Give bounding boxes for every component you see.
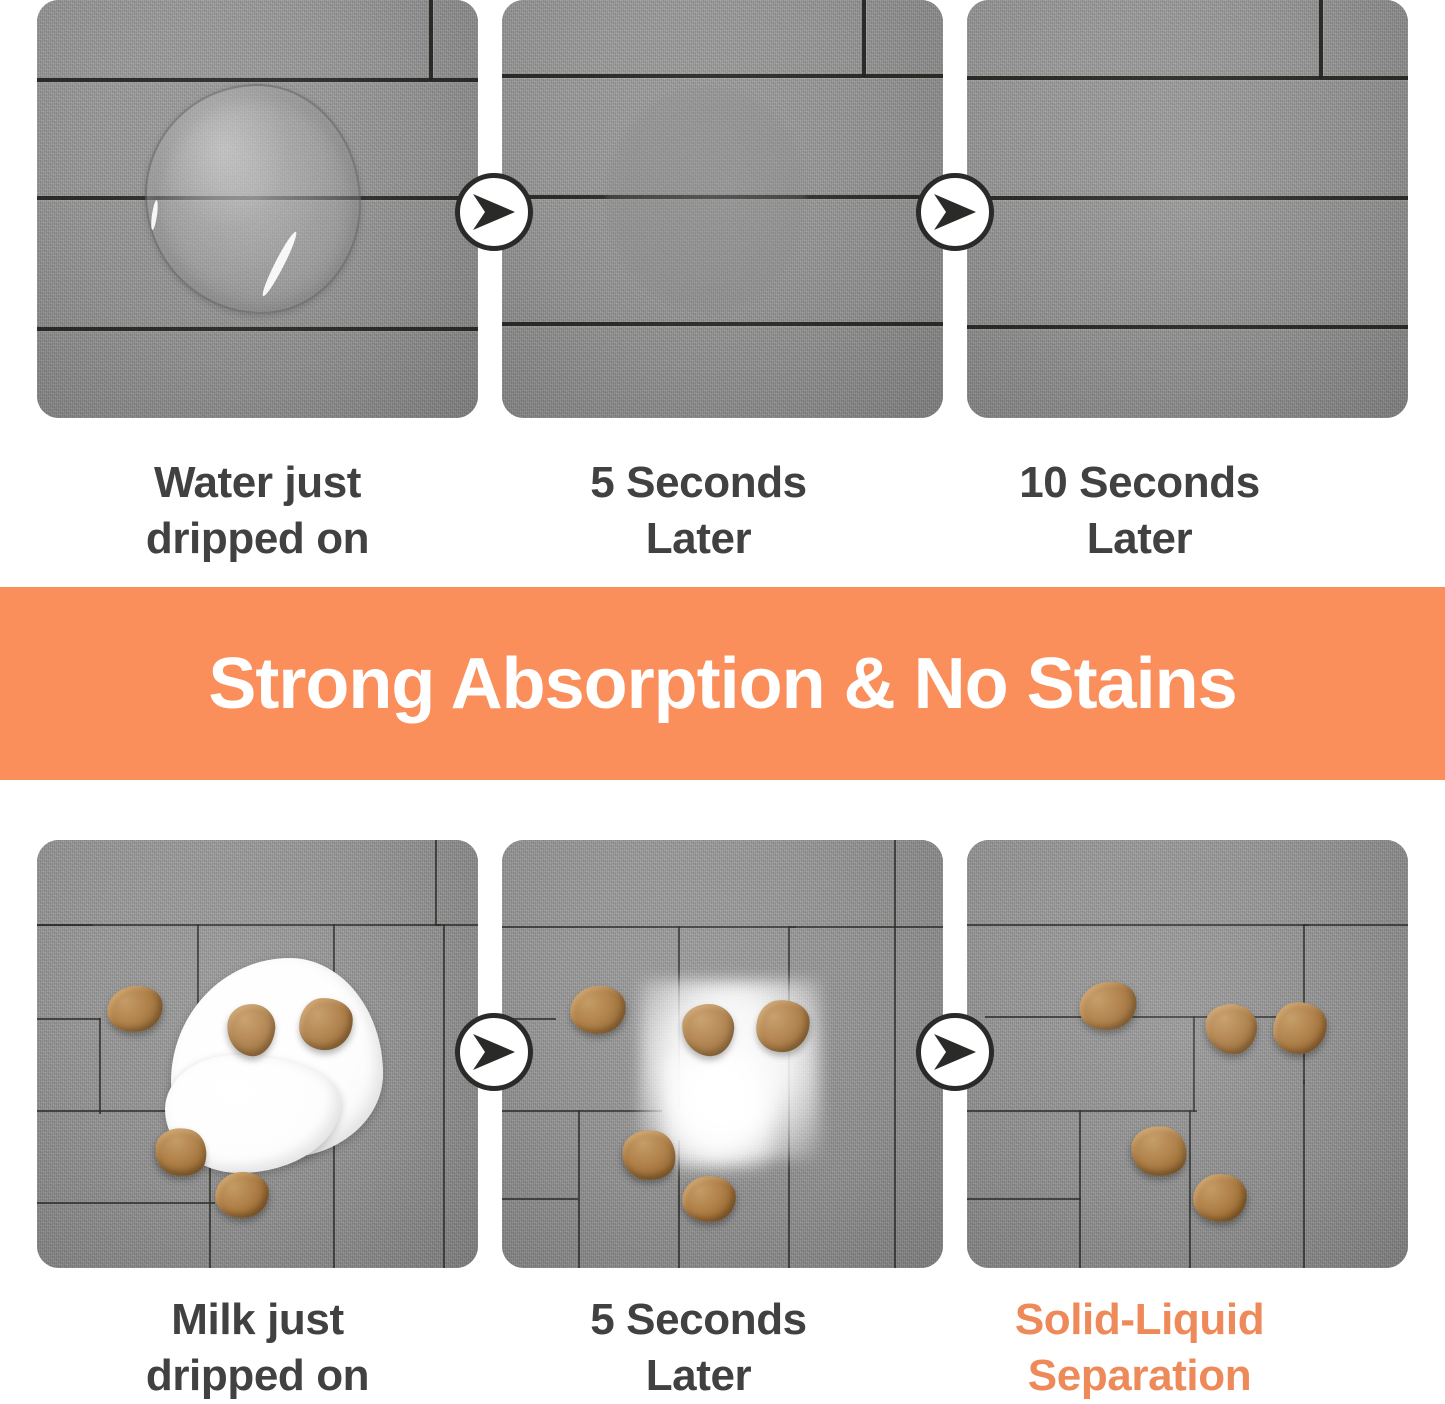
chevron-right-icon (471, 192, 517, 232)
chevron-right-icon (932, 1032, 978, 1072)
grout-line (1189, 1110, 1191, 1268)
grout-line (1079, 1110, 1081, 1268)
grout-line (1303, 924, 1408, 926)
grout-line (1319, 76, 1408, 80)
grout-line (862, 0, 866, 76)
bottom-panel-row (0, 840, 1445, 1268)
grout-line (37, 924, 93, 926)
caption-milk-5s: 5 Seconds Later (478, 1292, 919, 1404)
grout-line (37, 1202, 215, 1204)
panel-water-10s (967, 0, 1408, 418)
grout-line (502, 74, 866, 78)
grout-line (1319, 0, 1323, 78)
grout-line (894, 840, 896, 928)
grout-line (37, 78, 431, 82)
milk-residue (662, 1056, 772, 1170)
headline-banner: Strong Absorption & No Stains (0, 587, 1445, 780)
panel-milk-separated (967, 840, 1408, 1268)
panel-water-5s (502, 0, 943, 418)
caption-solid-liquid-separation: Solid-Liquid Separation (919, 1292, 1360, 1404)
arrow-top-2 (916, 173, 994, 251)
grout-line (429, 78, 478, 82)
grout-line (502, 322, 943, 326)
mat-surface (967, 840, 1408, 1268)
panel-milk-5s (502, 840, 943, 1268)
grout-line (37, 924, 441, 926)
grout-line (985, 1016, 1311, 1018)
grout-line (967, 1110, 1197, 1112)
panel-milk-fresh (37, 840, 478, 1268)
arrow-top-1 (455, 173, 533, 251)
grout-line (502, 1198, 578, 1200)
bottom-caption-row: Milk just dripped on 5 Seconds Later Sol… (0, 1292, 1445, 1404)
grout-line (967, 1198, 1081, 1200)
caption-water-5s: 5 Seconds Later (478, 455, 919, 567)
grout-line (1193, 1016, 1195, 1112)
panel-water-fresh (37, 0, 478, 418)
top-panel-row (0, 0, 1445, 418)
grout-line (429, 0, 433, 80)
damp-stain (606, 86, 806, 312)
grout-line (788, 926, 943, 928)
top-caption-row: Water just dripped on 5 Seconds Later 10… (0, 455, 1445, 567)
grout-line (37, 327, 478, 331)
grout-line (435, 924, 478, 926)
grout-line (967, 924, 1309, 926)
chevron-right-icon (932, 192, 978, 232)
arrow-bottom-1 (455, 1013, 533, 1091)
grout-line (37, 1018, 101, 1020)
chevron-right-icon (471, 1032, 517, 1072)
grout-line (967, 76, 1321, 80)
headline-text: Strong Absorption & No Stains (208, 643, 1236, 725)
grout-line (443, 924, 445, 1268)
mat-surface (967, 0, 1408, 418)
grout-line (435, 840, 437, 926)
caption-milk-fresh: Milk just dripped on (37, 1292, 478, 1404)
grout-line (502, 926, 796, 928)
arrow-bottom-2 (916, 1013, 994, 1091)
grout-line (862, 74, 943, 78)
grout-line (894, 926, 896, 1268)
grout-line (578, 1110, 580, 1268)
grout-line (967, 325, 1408, 329)
grout-line (99, 1018, 101, 1114)
grout-line (1303, 1080, 1305, 1268)
grout-line (502, 1110, 662, 1112)
caption-water-fresh: Water just dripped on (37, 455, 478, 567)
grout-line (967, 196, 1408, 200)
caption-water-10s: 10 Seconds Later (919, 455, 1360, 567)
